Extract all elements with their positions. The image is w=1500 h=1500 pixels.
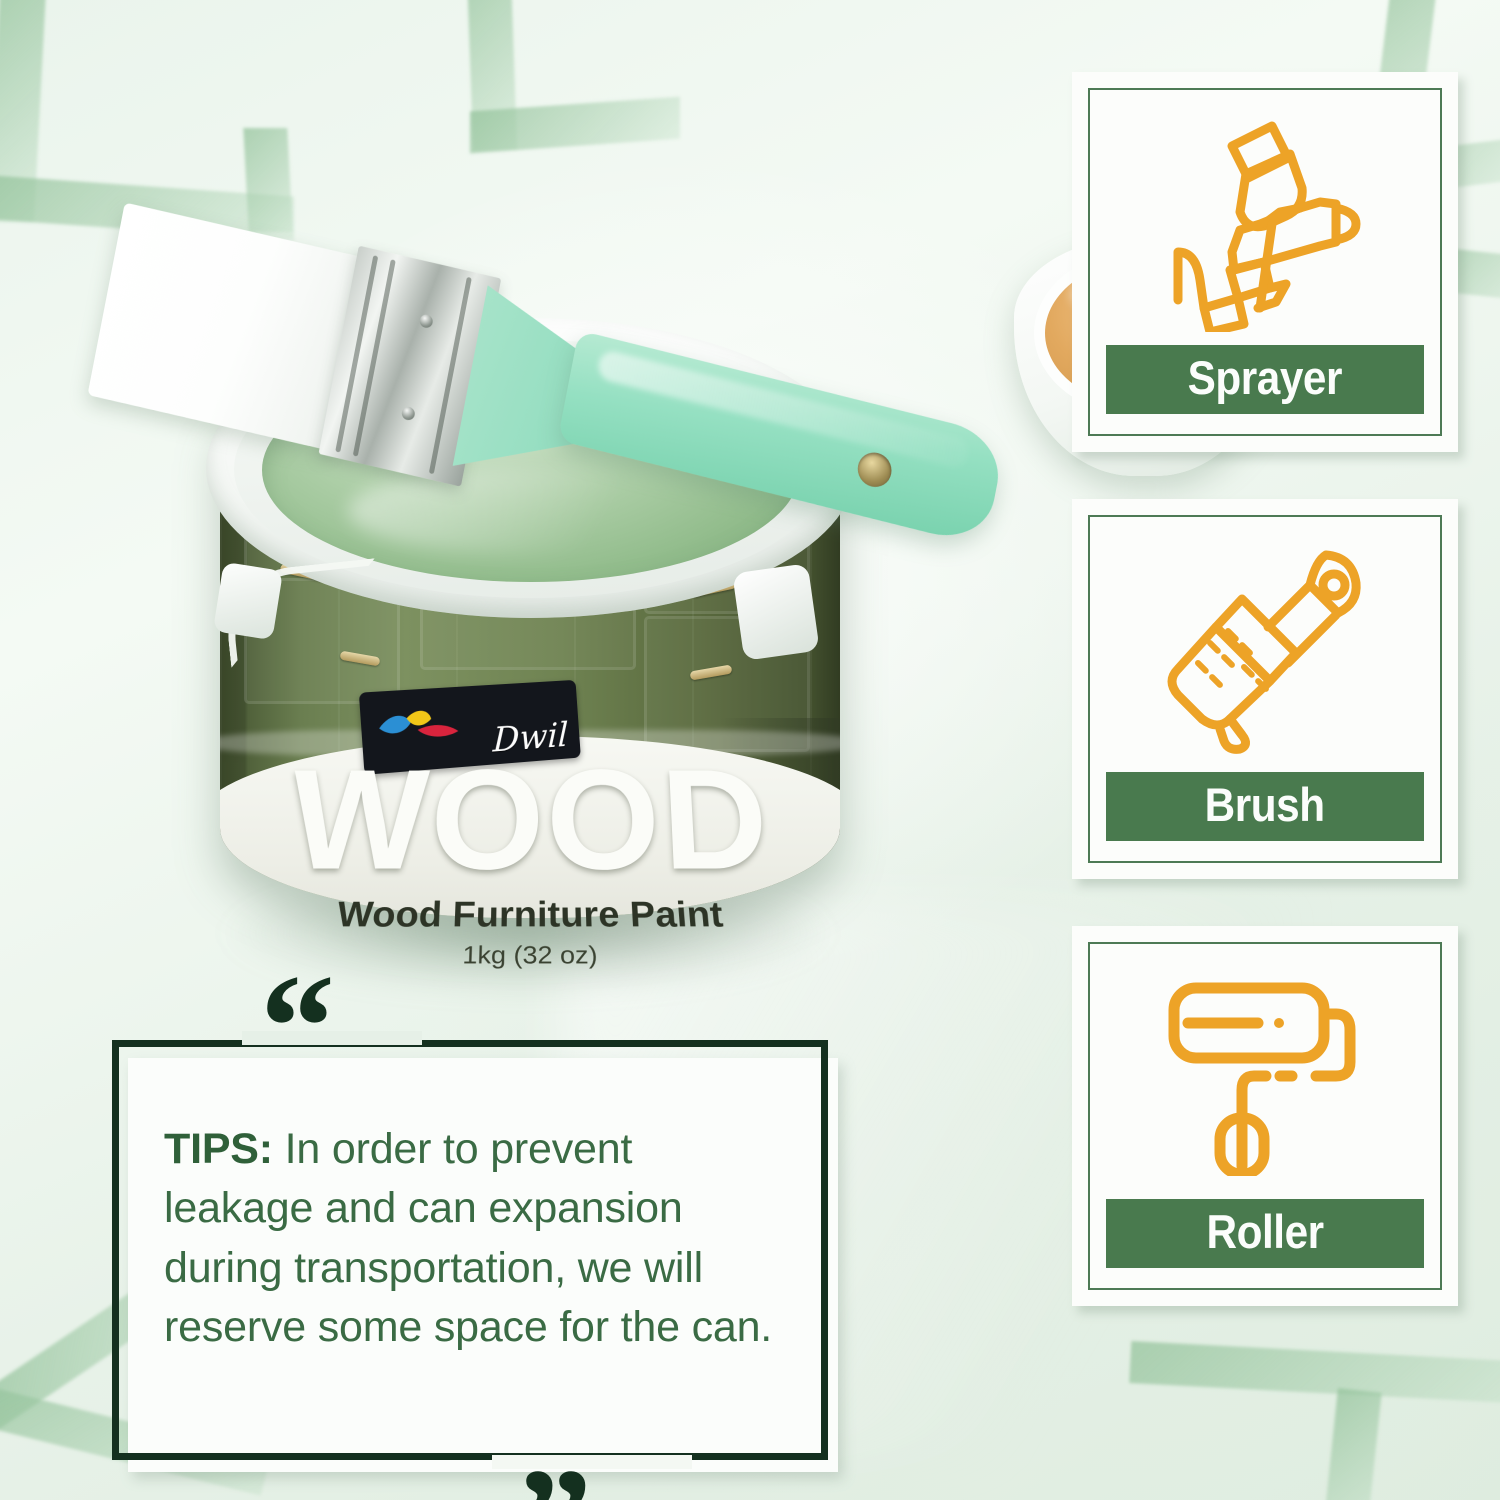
feature-card-brush[interactable]: Brush xyxy=(1072,499,1458,879)
paint-brush-icon xyxy=(1090,517,1440,772)
ferrule-rivet xyxy=(419,313,434,329)
feature-card-label: Roller xyxy=(1206,1208,1323,1257)
paint-sprayer-gun-icon xyxy=(1090,90,1440,345)
feature-card-roller[interactable]: Roller xyxy=(1072,926,1458,1306)
feature-card-label: Brush xyxy=(1205,781,1325,830)
feature-card-inner: Roller xyxy=(1088,942,1442,1290)
feature-card-label-bar: Sprayer xyxy=(1106,345,1424,414)
feature-card-sprayer[interactable]: Sprayer xyxy=(1072,72,1458,452)
tips-label: TIPS: xyxy=(164,1125,273,1173)
ferrule-groove xyxy=(353,259,396,456)
feature-card-inner: Brush xyxy=(1088,515,1442,863)
product-title: WOOD xyxy=(213,750,848,892)
feature-card-label-bar: Roller xyxy=(1106,1199,1424,1268)
product-subtitle: Wood Furniture Paint xyxy=(217,896,844,936)
quote-close-icon: ” xyxy=(517,1446,586,1500)
feature-card-label: Sprayer xyxy=(1188,354,1342,403)
tips-callout: “ ” TIPS: In order to prevent leakage an… xyxy=(112,1040,828,1460)
feature-card-label-bar: Brush xyxy=(1106,772,1424,841)
feature-card-inner: Sprayer xyxy=(1088,88,1442,436)
application-tools-list: Sprayer xyxy=(1072,72,1458,1306)
product-infographic: Dwil WOOD Wood Furniture Paint 1kg (32 o… xyxy=(0,0,1500,1500)
quote-open-icon: “ xyxy=(260,952,329,1102)
can-handle-lug-left xyxy=(213,562,283,641)
paint-roller-icon xyxy=(1090,944,1440,1199)
ferrule-rivet xyxy=(401,406,416,422)
tips-text: TIPS: In order to prevent leakage and ca… xyxy=(164,1120,782,1357)
